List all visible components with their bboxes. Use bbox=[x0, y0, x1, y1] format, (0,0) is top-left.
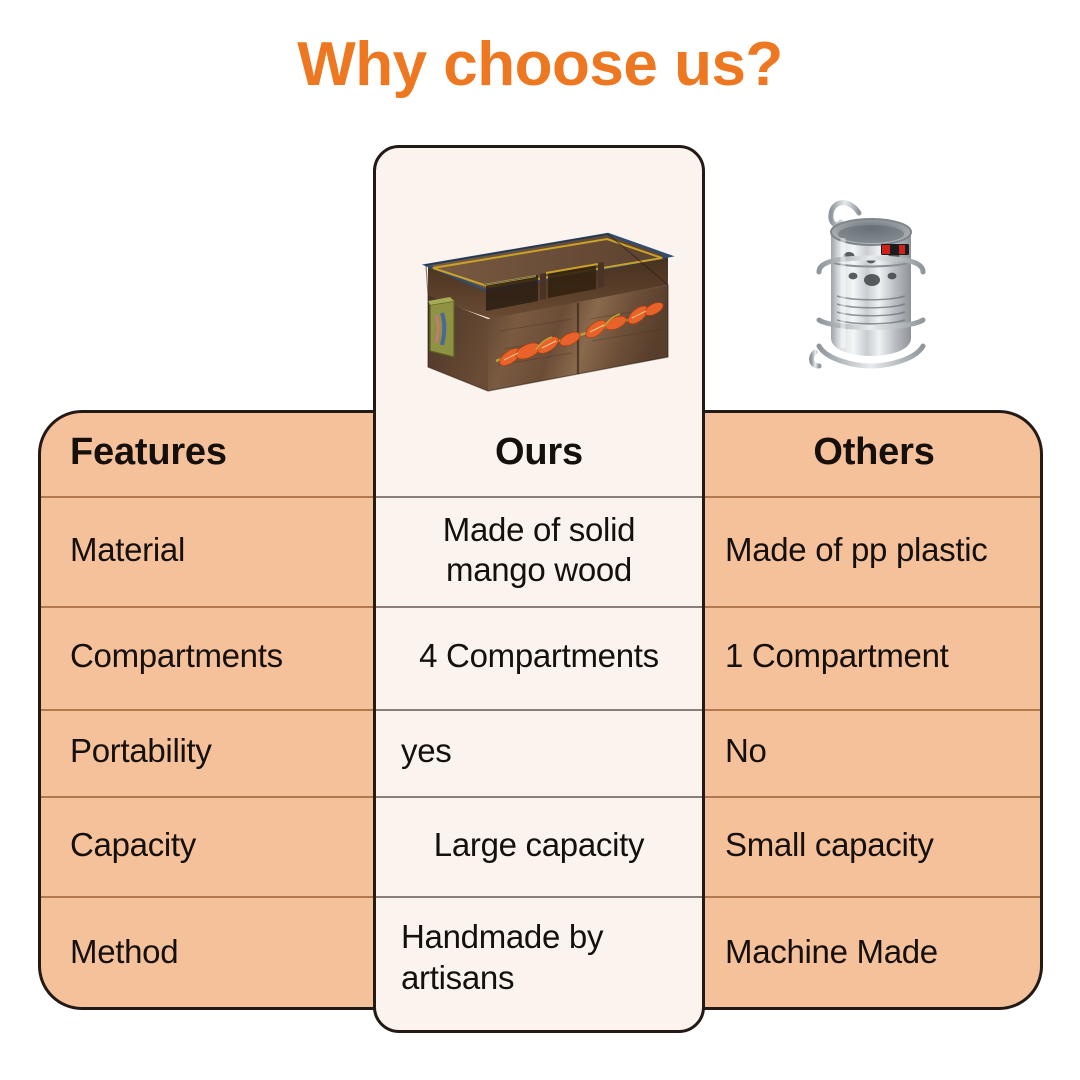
table-row-feature: Method bbox=[38, 895, 373, 1010]
table-row-feature: Portability bbox=[38, 708, 373, 795]
table-row-ours: Made of solid mango wood bbox=[373, 495, 705, 605]
table-row-others: Small capacity bbox=[705, 795, 1043, 895]
column-header-features: Features bbox=[38, 412, 373, 493]
column-header-others: Others bbox=[705, 412, 1043, 493]
table-row-feature: Compartments bbox=[38, 605, 373, 708]
table-row-others: Made of pp plastic bbox=[705, 495, 1043, 605]
wooden-cutlery-holder-image bbox=[400, 215, 678, 400]
table-row-ours: yes bbox=[373, 708, 705, 795]
table-row-feature: Material bbox=[38, 495, 373, 605]
table-row-ours: Handmade by artisans bbox=[373, 895, 705, 1020]
table-row-feature: Capacity bbox=[38, 795, 373, 895]
table-row-others: No bbox=[705, 708, 1043, 795]
table-row-others: Machine Made bbox=[705, 895, 1043, 1010]
steel-cutlery-holder-image bbox=[775, 188, 943, 393]
table-row-ours: 4 Compartments bbox=[373, 605, 705, 708]
column-header-ours: Ours bbox=[373, 412, 705, 493]
page-title: Why choose us? bbox=[0, 32, 1080, 97]
table-row-ours: Large capacity bbox=[373, 795, 705, 895]
table-row-others: 1 Compartment bbox=[705, 605, 1043, 708]
infographic-canvas: Why choose us? bbox=[0, 0, 1080, 1080]
